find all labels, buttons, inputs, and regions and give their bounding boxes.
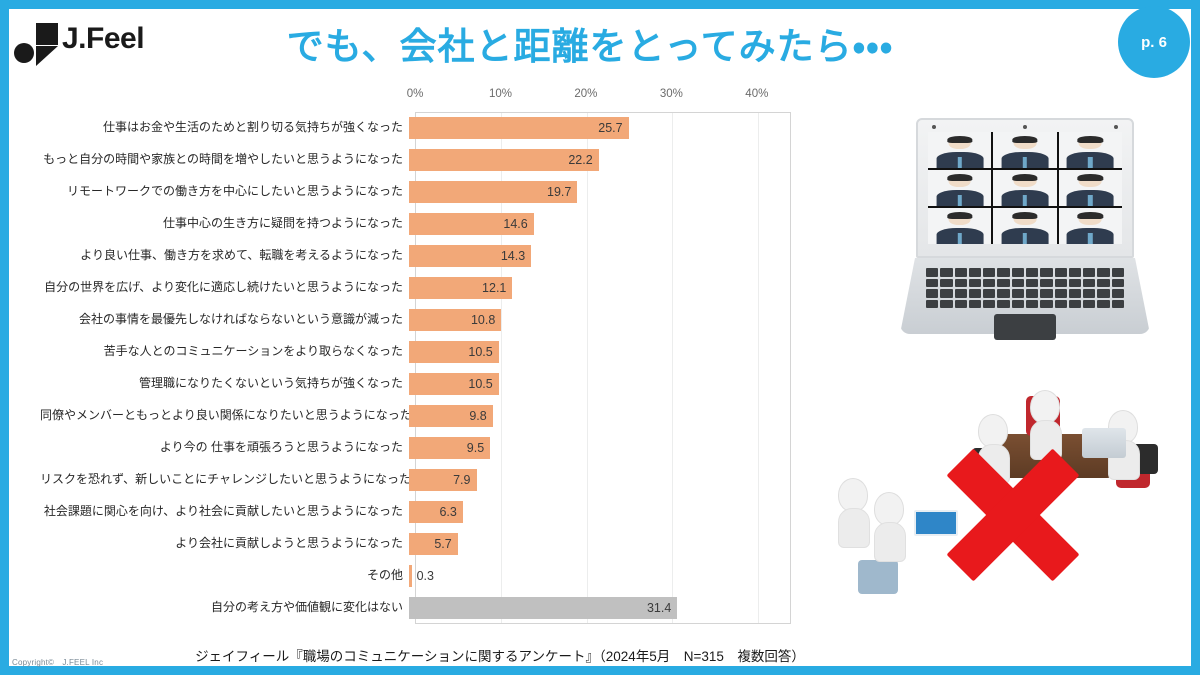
keyboard-key	[1069, 279, 1081, 288]
laptop-lid	[916, 118, 1134, 258]
keyboard-key	[1069, 300, 1081, 309]
keyboard-key	[983, 289, 995, 298]
keyboard-key	[1069, 268, 1081, 277]
bar-track: 25.7	[409, 112, 800, 144]
camera-icon	[1114, 125, 1118, 129]
slide-canvas: J.Feel でも、会社と距離をとってみたら・・・ p. 6 0%10%20%3…	[0, 0, 1200, 675]
keyboard-key	[1055, 279, 1067, 288]
keyboard-key	[997, 289, 1009, 298]
keyboard-key	[1083, 279, 1095, 288]
circle-icon	[14, 43, 34, 63]
bar-row: 管理職になりたくないという気持ちが強くなった10.5	[40, 368, 800, 400]
keyboard-key	[926, 289, 938, 298]
category-label: 自分の世界を広げ、より変化に適応し続けたいと思うようになった	[40, 281, 409, 295]
bar-row: 自分の考え方や価値観に変化はない31.4	[40, 592, 800, 624]
bar-track: 0.3	[409, 560, 800, 592]
video-participant-tile	[928, 208, 991, 244]
keyboard-key	[983, 268, 995, 277]
keyboard-key	[1097, 279, 1109, 288]
frame-border-right	[1191, 0, 1200, 675]
person-head	[874, 492, 904, 526]
keyboard-key	[1097, 289, 1109, 298]
category-label: 苦手な人とのコミュニケーションをより取らなくなった	[40, 345, 409, 359]
x-axis-tick-label: 40%	[745, 88, 768, 100]
keyboard-key	[1012, 289, 1024, 298]
category-label: より今の 仕事を頑張ろうと思うようになった	[40, 441, 409, 455]
bar-value-label: 31.4	[409, 597, 677, 619]
keyboard-key	[1012, 300, 1024, 309]
bar-value-label: 7.9	[409, 469, 477, 491]
x-axis-tick-label: 0%	[407, 88, 424, 100]
camera-icon	[932, 125, 936, 129]
keyboard-key	[1083, 300, 1095, 309]
bar-value-label: 9.5	[409, 437, 490, 459]
bar-value-label: 10.5	[409, 341, 499, 363]
person-figure	[838, 478, 870, 548]
bar-row: 社会課題に関心を向け、より社会に貢献したいと思うようになった6.3	[40, 496, 800, 528]
laptop-shape	[1082, 428, 1126, 458]
category-label: もっと自分の時間や家族との時間を増やしたいと思うようになった	[40, 153, 409, 167]
bar-value-label: 10.8	[409, 309, 501, 331]
category-label: 社会課題に関心を向け、より社会に貢献したいと思うようになった	[40, 505, 409, 519]
keyboard-key	[940, 279, 952, 288]
bar-track: 7.9	[409, 464, 800, 496]
keyboard-key	[1112, 268, 1124, 277]
frame-border-top	[0, 0, 1200, 9]
x-axis-tick-label: 30%	[660, 88, 683, 100]
bar-value-label: 10.5	[409, 373, 499, 395]
bar-value-label: 19.7	[409, 181, 577, 203]
keyboard-key	[983, 279, 995, 288]
bar-value-label: 6.3	[409, 501, 463, 523]
video-participant-tile	[928, 170, 991, 206]
keyboard-key	[1083, 268, 1095, 277]
keyboard-key	[1055, 300, 1067, 309]
keyboard-key	[940, 289, 952, 298]
category-label: その他	[40, 569, 409, 583]
keyboard-key	[1026, 289, 1038, 298]
brand-logo-text: J.Feel	[62, 22, 144, 56]
video-participant-tile	[993, 208, 1056, 244]
bar-row: 苦手な人とのコミュニケーションをより取らなくなった10.5	[40, 336, 800, 368]
keyboard-key	[1026, 300, 1038, 309]
laptop-trackpad	[994, 314, 1056, 340]
keyboard-key	[1083, 289, 1095, 298]
bar-track: 19.7	[409, 176, 800, 208]
laptop-video-conference-illustration	[900, 118, 1150, 348]
keyboard-key	[1040, 300, 1052, 309]
bar-row: より良い仕事、働き方を求めて、転職を考えるようになった14.3	[40, 240, 800, 272]
keyboard-key	[1055, 268, 1067, 277]
keyboard-key	[1012, 268, 1024, 277]
bar-track: 12.1	[409, 272, 800, 304]
office-people-with-red-x-illustration	[830, 382, 1190, 634]
bar-value-label: 9.8	[409, 405, 493, 427]
video-grid	[928, 132, 1122, 244]
camera-icon	[1023, 125, 1027, 129]
keyboard-key	[1097, 300, 1109, 309]
x-axis-tick-label: 20%	[574, 88, 597, 100]
category-label: 同僚やメンバーともっとより良い関係になりたいと思うようになった	[40, 409, 409, 423]
keyboard-key	[969, 279, 981, 288]
keyboard-key	[969, 268, 981, 277]
keyboard-key	[1026, 279, 1038, 288]
bar-row: もっと自分の時間や家族との時間を増やしたいと思うようになった22.2	[40, 144, 800, 176]
keyboard-key	[926, 268, 938, 277]
bar-row: その他0.3	[40, 560, 800, 592]
keyboard-key	[1112, 300, 1124, 309]
video-participant-tile	[993, 132, 1056, 168]
keyboard-key	[969, 289, 981, 298]
keyboard-key	[1097, 268, 1109, 277]
keyboard-key	[1012, 279, 1024, 288]
keyboard-key	[1040, 289, 1052, 298]
keyboard-key	[1026, 268, 1038, 277]
page-title: でも、会社と距離をとってみたら・・・	[230, 16, 950, 70]
keyboard-key	[997, 300, 1009, 309]
bar-row: より会社に貢献しようと思うようになった5.7	[40, 528, 800, 560]
video-participant-tile	[993, 170, 1056, 206]
bar-track: 14.6	[409, 208, 800, 240]
category-label: 管理職になりたくないという気持ちが強くなった	[40, 377, 409, 391]
keyboard-key	[955, 279, 967, 288]
bar-track: 10.5	[409, 368, 800, 400]
bar-track: 10.8	[409, 304, 800, 336]
bar-rows: 仕事はお金や生活のためと割り切る気持ちが強くなった25.7もっと自分の時間や家族…	[40, 112, 800, 624]
frame-border-left	[0, 0, 9, 675]
bar-track: 10.5	[409, 336, 800, 368]
keyboard-key	[926, 300, 938, 309]
category-label: リモートワークでの働き方を中心にしたいと思うようになった	[40, 185, 409, 199]
bar-track: 5.7	[409, 528, 800, 560]
keyboard-key	[955, 268, 967, 277]
keyboard-key	[1055, 289, 1067, 298]
bar-row: 自分の世界を広げ、より変化に適応し続けたいと思うようになった12.1	[40, 272, 800, 304]
bar-track: 9.5	[409, 432, 800, 464]
bar-row: より今の 仕事を頑張ろうと思うようになった9.5	[40, 432, 800, 464]
bar-value-label: 22.2	[409, 149, 599, 171]
page-number-badge: p. 6	[1118, 6, 1190, 78]
bar-track: 14.3	[409, 240, 800, 272]
keyboard-key	[997, 268, 1009, 277]
keyboard-key	[983, 300, 995, 309]
keyboard-key	[926, 279, 938, 288]
person-head	[1030, 390, 1060, 424]
bar-value-label: 14.3	[409, 245, 531, 267]
bar-track: 31.4	[409, 592, 800, 624]
copyright-text: Copyright© J.FEEL Inc	[12, 657, 103, 668]
keyboard-key	[969, 300, 981, 309]
triangle-icon	[36, 46, 58, 66]
keyboard-key	[997, 279, 1009, 288]
keyboard-key	[1040, 279, 1052, 288]
person-body	[874, 522, 906, 562]
bar-track: 22.2	[409, 144, 800, 176]
keyboard-key	[1040, 268, 1052, 277]
keyboard-key	[940, 268, 952, 277]
bar-row: 同僚やメンバーともっとより良い関係になりたいと思うようになった9.8	[40, 400, 800, 432]
bar-value-label: 14.6	[409, 213, 534, 235]
category-label: 仕事中心の生き方に疑問を持つようになった	[40, 217, 409, 231]
bar-value-label: 12.1	[409, 277, 512, 299]
category-label: リスクを恐れず、新しいことにチャレンジしたいと思うようになった	[40, 473, 409, 487]
video-participant-tile	[1059, 170, 1122, 206]
person-body	[838, 508, 870, 548]
survey-bar-chart: 0%10%20%30%40% 仕事はお金や生活のためと割り切る気持ちが強くなった…	[40, 88, 800, 633]
video-participant-tile	[1059, 208, 1122, 244]
keyboard-key	[1112, 289, 1124, 298]
bar-value-label: 0.3	[412, 565, 434, 587]
bar-value-label: 5.7	[409, 533, 458, 555]
category-label: 会社の事情を最優先しなければならないという意識が減った	[40, 313, 409, 327]
bar-track: 6.3	[409, 496, 800, 528]
x-axis-ticks: 0%10%20%30%40%	[40, 88, 800, 108]
keyboard-key	[955, 300, 967, 309]
source-note: ジェイフィール『職場のコミュニケーションに関するアンケート』（2024年5月 N…	[120, 645, 880, 665]
category-label: より会社に貢献しようと思うようになった	[40, 537, 409, 551]
person-head	[838, 478, 868, 512]
bar-row: リスクを恐れず、新しいことにチャレンジしたいと思うようになった7.9	[40, 464, 800, 496]
brand-logo: J.Feel	[14, 18, 164, 66]
bar-track: 9.8	[409, 400, 800, 432]
laptop-keyboard	[926, 268, 1124, 308]
category-label: 仕事はお金や生活のためと割り切る気持ちが強くなった	[40, 121, 409, 135]
person-figure	[874, 492, 906, 562]
keyboard-key	[1112, 279, 1124, 288]
category-label: 自分の考え方や価値観に変化はない	[40, 601, 409, 615]
keyboard-key	[940, 300, 952, 309]
video-participant-tile	[1059, 132, 1122, 168]
bar-value-label: 25.7	[409, 117, 629, 139]
bar-row: 会社の事情を最優先しなければならないという意識が減った10.8	[40, 304, 800, 336]
chair-shape	[858, 560, 898, 594]
square-icon	[36, 23, 58, 45]
frame-border-bottom	[0, 666, 1200, 675]
bar-row: リモートワークでの働き方を中心にしたいと思うようになった19.7	[40, 176, 800, 208]
x-axis-tick-label: 10%	[489, 88, 512, 100]
bar-row: 仕事はお金や生活のためと割り切る気持ちが強くなった25.7	[40, 112, 800, 144]
keyboard-key	[1069, 289, 1081, 298]
video-participant-tile	[928, 132, 991, 168]
keyboard-key	[955, 289, 967, 298]
red-x-icon	[938, 440, 1088, 590]
bar-row: 仕事中心の生き方に疑問を持つようになった14.6	[40, 208, 800, 240]
category-label: より良い仕事、働き方を求めて、転職を考えるようになった	[40, 249, 409, 263]
